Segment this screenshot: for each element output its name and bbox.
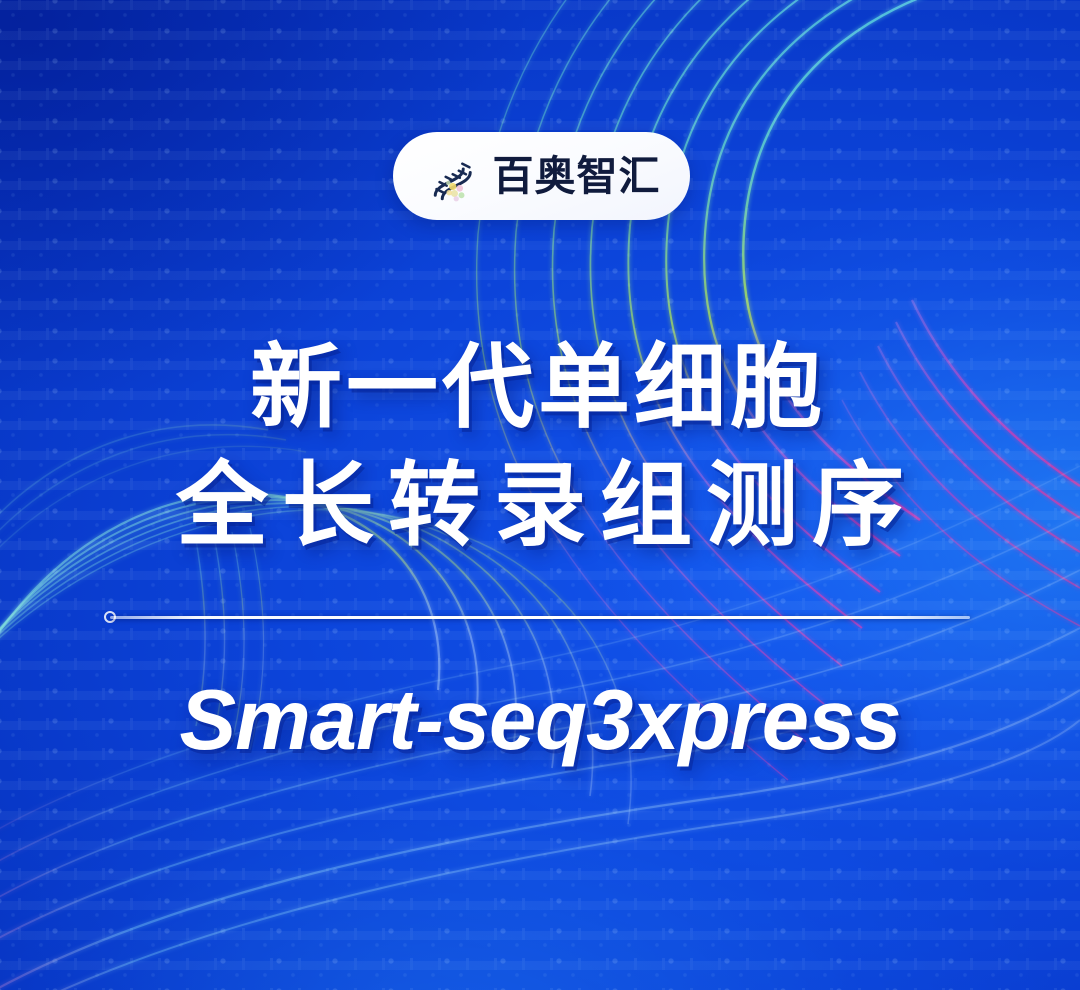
poster-canvas: 百奥智汇 新一代单细胞 全长转录组测序 Smart-seq3xpress (0, 0, 1080, 990)
divider-line (110, 616, 970, 619)
poster-content: 百奥智汇 新一代单细胞 全长转录组测序 Smart-seq3xpress (0, 0, 1080, 990)
headline-line-2: 全长转录组测序 (0, 458, 1080, 555)
dna-helix-icon (423, 148, 479, 204)
product-subtitle: Smart-seq3xpress (0, 672, 1080, 770)
brand-name-text: 百奥智汇 (493, 156, 661, 197)
brand-logo-badge: 百奥智汇 (393, 132, 690, 220)
headline-line-1: 新一代单细胞 (0, 340, 1080, 437)
